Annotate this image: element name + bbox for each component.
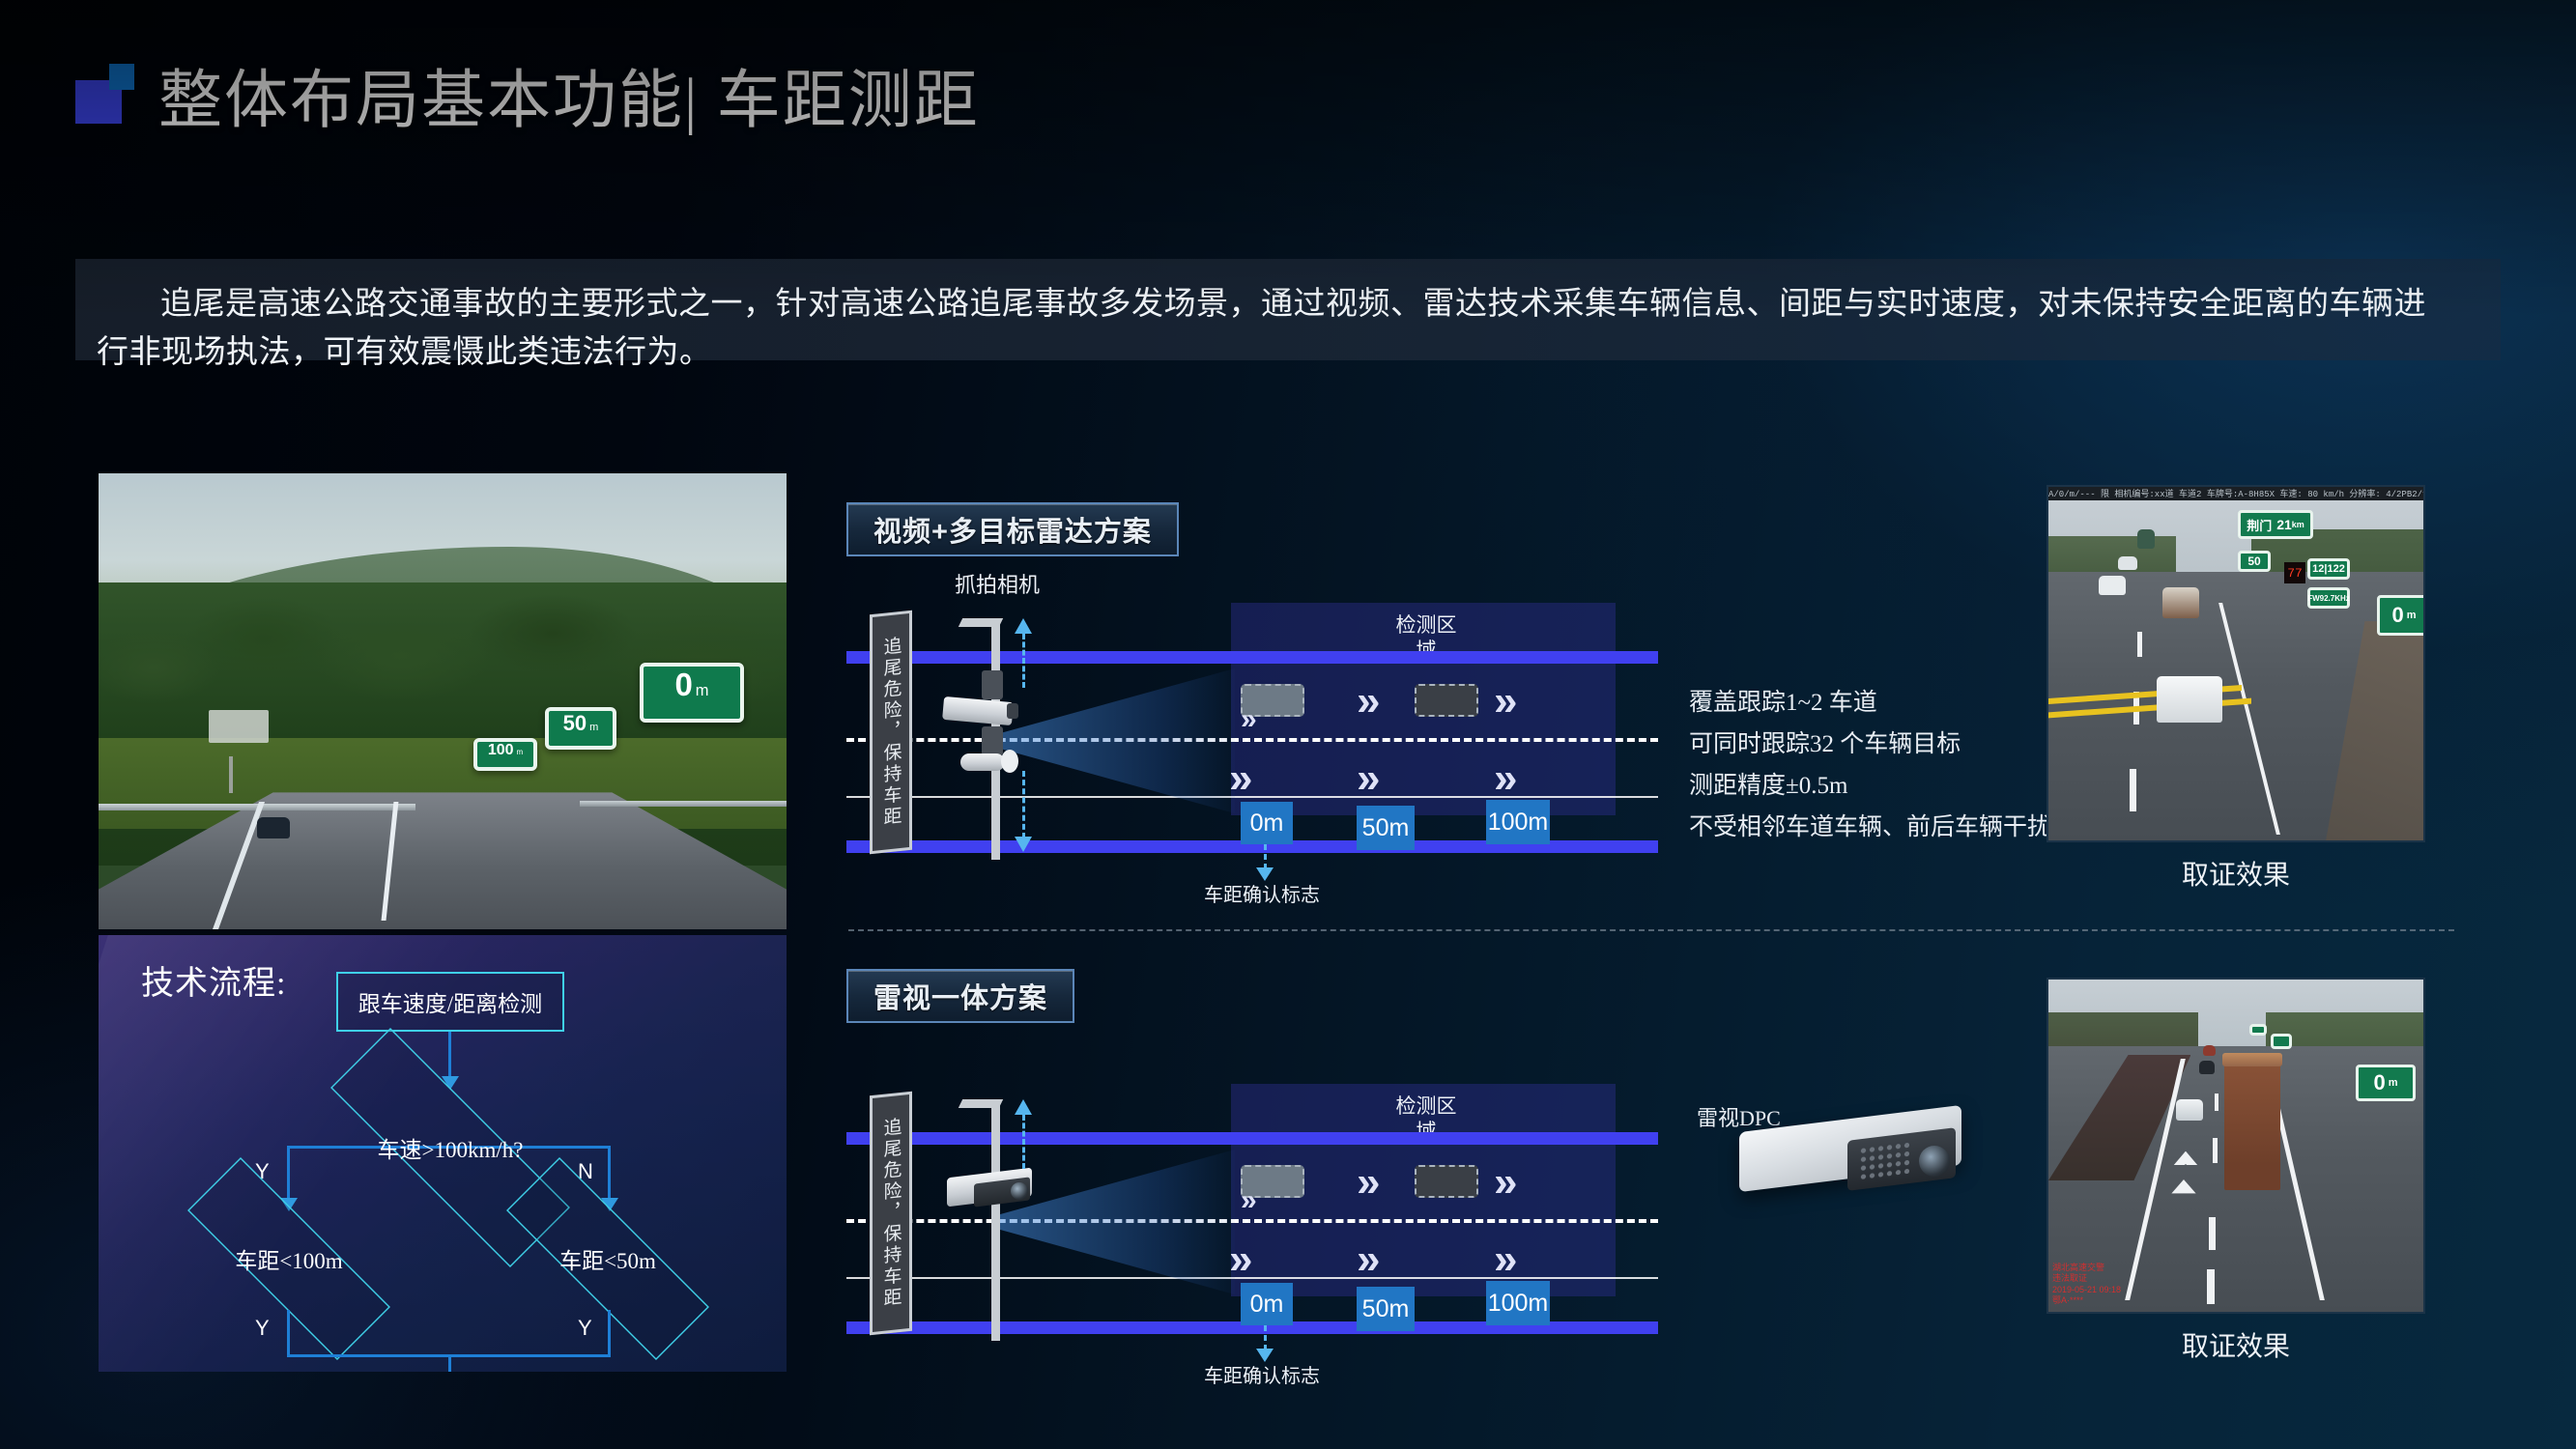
flow-label-left-yes: Y	[255, 1316, 270, 1341]
coverage-arrow-up-head-icon-b	[1015, 1099, 1032, 1115]
radar-unit-lower	[982, 726, 1003, 755]
hw-truck	[2224, 1061, 2280, 1190]
scheme-bottom-label-text: 雷视一体方案	[873, 976, 1047, 1016]
hw-truck-top	[2222, 1053, 2282, 1066]
title-text: 整体布局基本功能| 车距测距	[158, 70, 980, 133]
description-text: 追尾是高速公路交通事故的主要形式之一，针对高速公路追尾事故多发场景，通过视频、雷…	[97, 280, 2454, 377]
flow-decision-dist-100-label: 车距<100m	[235, 1242, 342, 1275]
hw-car-dark-bottom	[2199, 1061, 2215, 1074]
ptz-camera-lens-icon	[1001, 750, 1018, 773]
hw-sign-jingmen: 荆门 21 km	[2238, 510, 2313, 539]
chevron-marker-3-icon: »	[1494, 680, 1517, 723]
flow-node-start-label: 跟车速度/距离检测	[358, 985, 542, 1018]
hw-lane-dash-b1	[2215, 1094, 2218, 1111]
road-rail-top	[846, 651, 1658, 664]
hw-speed-value: 77	[2287, 566, 2303, 581]
hw-sign-far-green-1	[2249, 1024, 2267, 1036]
hw-lane-dash-b4	[2207, 1269, 2215, 1304]
hw-car-red-bottom	[2203, 1045, 2216, 1056]
road-sign-100m-value: 100	[488, 742, 514, 759]
chevron-marker-4-icon-b: »	[1229, 1238, 1252, 1281]
flow-edge-no-v	[608, 1146, 611, 1202]
hw-watermark: 湖北高速交警 违法取证 2019-05-21 09:18 鄂A·****	[2052, 1263, 2121, 1306]
hw-watermark-line-1: 湖北高速交警	[2052, 1263, 2121, 1273]
road-sign-100m-unit: m	[517, 748, 524, 756]
hw-watermark-line-3: 2019-05-21 09:18	[2052, 1285, 2121, 1295]
evidence-ocr-strip: A/0/m/--- 限 相机编号:xx道 车道2 车牌号:A-8H85X 车速:…	[2048, 487, 2423, 500]
section-divider	[848, 929, 2454, 931]
hw-watermark-line-2: 违法取证	[2052, 1273, 2121, 1284]
marker-confirm-note: 车距确认标志	[1204, 879, 1320, 907]
distance-chip-100m-b: 100m	[1486, 1281, 1550, 1325]
ptz-camera-body	[960, 753, 1005, 771]
road-sign-100m: 100 m	[473, 738, 537, 771]
hw-car-white-far2	[2118, 556, 2137, 570]
flow-edge-start-to-decision	[448, 1032, 451, 1080]
technical-flow-panel: 技术流程: 跟车速度/距离检测 车速>100km/h? Y N 车距<100m …	[99, 935, 787, 1372]
road-sign-50m-value: 50	[563, 711, 587, 736]
flow-node-start[interactable]: 跟车速度/距离检测	[336, 972, 564, 1032]
flow-title: 技术流程:	[141, 956, 286, 1004]
evidence-photo-bottom: 0 m 湖北高速交警 违法取证 2019-05-21 09:18 鄂A·****	[2046, 978, 2425, 1314]
lane-dash-center	[846, 738, 1658, 742]
gantry-warning-text: 追尾危险，保持车距	[878, 636, 904, 830]
hw-sign-0m-bottom-text: 0	[2373, 1070, 2385, 1095]
chevron-marker-1-icon: »	[1241, 705, 1257, 734]
hw-bus-far	[2137, 529, 2155, 549]
hw-car-white-bottom	[2176, 1099, 2203, 1121]
chevron-marker-6-icon: »	[1494, 757, 1517, 800]
hw-watermark-line-4: 鄂A·****	[2052, 1295, 2121, 1306]
radar-device-emitter-grid-icon	[1859, 1141, 1909, 1179]
mini-car-2-b	[1415, 1165, 1478, 1198]
hw-sign-50: 50	[2238, 551, 2271, 572]
road-sign-0m: 0 m	[640, 663, 744, 723]
evidence-bottom-caption: 取证效果	[2046, 1325, 2425, 1364]
flow-edge-l-down	[287, 1310, 290, 1356]
radar-device-image	[1739, 1109, 2000, 1225]
distance-chip-0m: 0m	[1241, 802, 1293, 844]
road-sign-0m-value: 0	[674, 667, 692, 703]
mini-car-2	[1415, 684, 1478, 717]
hw-sign-0m-top-unit: m	[2407, 610, 2417, 621]
capture-camera-label: 抓拍相机	[955, 568, 1040, 599]
hw-sign-0m-bottom: 0 m	[2356, 1065, 2416, 1101]
hw-car-white-main	[2157, 676, 2222, 723]
gantry-warning-sign-b: 追尾危险，保持车距	[870, 1092, 912, 1336]
chevron-marker-2-icon-b: »	[1357, 1161, 1380, 1204]
hw-lane-dash3-top	[2130, 769, 2136, 811]
evidence-top-caption: 取证效果	[2046, 854, 2425, 893]
distance-chip-50m-b: 50m	[1357, 1287, 1415, 1331]
chevron-marker-6-icon-b: »	[1494, 1238, 1517, 1281]
hw-sign-0m-top-text: 0	[2391, 603, 2403, 628]
capture-camera-body	[942, 696, 1014, 725]
gantry-warning-sign: 追尾危险，保持车距	[870, 611, 912, 855]
distance-chip-50m: 50m	[1357, 806, 1415, 850]
coverage-arrow-down-line	[1022, 771, 1025, 838]
chevron-marker-5-icon-b: »	[1357, 1238, 1380, 1281]
logo-square-small	[109, 64, 134, 90]
chevron-marker-2-icon: »	[1357, 680, 1380, 723]
bullet-1: 覆盖跟踪1~2 车道	[1689, 682, 2051, 724]
distance-chip-100m: 100m	[1486, 800, 1550, 844]
photo-billboard	[209, 710, 269, 743]
road-sign-50m: 50 m	[545, 707, 616, 750]
page-title: 整体布局基本功能| 车距测距	[75, 64, 980, 133]
hw-sign-fw: FW92.7KHz	[2307, 587, 2350, 609]
coverage-arrow-up-line-b	[1022, 1115, 1025, 1169]
hw-sign-12122: 12|122	[2307, 558, 2350, 580]
hw-lane-dash-top	[2137, 632, 2142, 657]
distance-chip-0m-b: 0m	[1241, 1283, 1293, 1325]
distance-chip-100m-text: 100m	[1488, 809, 1549, 837]
road-rail-top-b	[846, 1132, 1658, 1145]
flow-label-right-yes: Y	[578, 1316, 592, 1341]
evidence-photo-top: A/0/m/--- 限 相机编号:xx道 车道2 车牌号:A-8H85X 车速:…	[2046, 485, 2425, 842]
marker-confirm-note-b: 车距确认标志	[1204, 1360, 1320, 1388]
flow-edge-r-down	[608, 1310, 611, 1356]
road-sign-50m-unit: m	[589, 722, 598, 733]
chevron-marker-5-icon: »	[1357, 757, 1380, 800]
gantry-arm-b	[959, 1099, 1003, 1108]
scheme-top-label[interactable]: 视频+多目标雷达方案	[846, 502, 1179, 556]
gantry-arm	[959, 618, 1003, 627]
gantry-warning-text-b: 追尾危险，保持车距	[878, 1117, 904, 1311]
hw-lane-dash-b2	[2213, 1138, 2218, 1163]
marker-callout-line-b	[1264, 1325, 1267, 1350]
distance-chip-100m-b-text: 100m	[1488, 1290, 1549, 1318]
flow-edge-yes-v	[287, 1146, 290, 1202]
coverage-arrow-down-head-icon	[1015, 837, 1032, 852]
radar-device-lens-icon	[1919, 1146, 1950, 1177]
road-sign-0m-unit: m	[696, 682, 709, 700]
flow-decision-dist-100[interactable]: 车距<100m	[139, 1206, 439, 1312]
marker-callout-line	[1264, 844, 1267, 869]
coverage-arrow-up-head-icon	[1015, 618, 1032, 634]
hw-lane-dash-b3	[2209, 1217, 2216, 1250]
hw-sign-0m-top: 0 m	[2377, 595, 2425, 636]
distance-chip-0m-b-text: 0m	[1250, 1291, 1284, 1319]
hw-sign-0m-bottom-unit: m	[2389, 1077, 2398, 1089]
bullet-2: 可同时跟踪32 个车辆目标	[1689, 724, 2051, 765]
hw-car-suv	[2162, 587, 2199, 618]
slide-root: 整体布局基本功能| 车距测距 追尾是高速公路交通事故的主要形式之一，针对高速公路…	[0, 0, 2576, 1449]
chevron-marker-4-icon: »	[1229, 757, 1252, 800]
hw-sign-fw-text: FW92.7KHz	[2307, 594, 2350, 603]
radar-unit-upper	[982, 670, 1003, 699]
hw-sign-jingmen-unit: km	[2292, 520, 2304, 529]
hw-sign-jingmen-value: 21	[2276, 517, 2292, 532]
flow-decision-speed-label: 车速>100km/h?	[378, 1131, 524, 1164]
left-highway-photo: 100 m 50 m 0 m	[99, 473, 787, 929]
scheme-top-bullets: 覆盖跟踪1~2 车道 可同时跟踪32 个车辆目标 测距精度±0.5m 不受相邻车…	[1689, 682, 2051, 848]
distance-chip-50m-b-text: 50m	[1362, 1295, 1410, 1323]
gantry-pole-b	[991, 1099, 1000, 1341]
flow-edge-to-end	[448, 1354, 451, 1372]
photo-guardrail-right	[580, 801, 787, 807]
photo-billboard-post	[229, 756, 233, 793]
bullet-4: 不受相邻车道车辆、前后车辆干扰	[1689, 807, 2051, 848]
scheme-top-label-text: 视频+多目标雷达方案	[873, 509, 1152, 550]
hw-sign-far-green-2	[2271, 1034, 2292, 1049]
bullet-3: 测距精度±0.5m	[1689, 765, 2051, 807]
capture-camera-lens-icon	[1007, 703, 1018, 719]
flow-decision-dist-50-label: 车距<50m	[559, 1242, 656, 1275]
logo-mark-icon	[75, 64, 137, 124]
hw-speed-display: 77	[2284, 562, 2305, 583]
scheme-bottom-diagram: 检测区 域 追尾危险，保持车距 » » » » » » 0m 50m 100	[846, 1072, 1658, 1362]
distance-chip-0m-text: 0m	[1250, 810, 1284, 838]
chevron-marker-3-icon-b: »	[1494, 1161, 1517, 1204]
hw-car-white-far	[2099, 576, 2126, 595]
lane-dash-center-b	[846, 1219, 1658, 1223]
scheme-bottom-label[interactable]: 雷视一体方案	[846, 969, 1074, 1023]
radar-vision-unit-lens-icon	[1011, 1182, 1028, 1200]
coverage-arrow-up-line	[1022, 634, 1025, 688]
hw-sign-50-text: 50	[2247, 554, 2260, 568]
distance-chip-50m-text: 50m	[1362, 814, 1410, 842]
flow-decision-dist-50[interactable]: 车距<50m	[458, 1206, 758, 1312]
photo-vehicle	[257, 817, 290, 838]
hw-sign-12122-text: 12|122	[2312, 563, 2345, 575]
hw-sign-jingmen-text: 荆门	[2247, 516, 2272, 534]
detection-beam	[993, 668, 1235, 813]
scheme-top-diagram: 检测区 域 追尾危险，保持车距 抓拍相机 » » » » » » 0m	[846, 591, 1658, 881]
chevron-marker-1-icon-b: »	[1241, 1186, 1257, 1215]
